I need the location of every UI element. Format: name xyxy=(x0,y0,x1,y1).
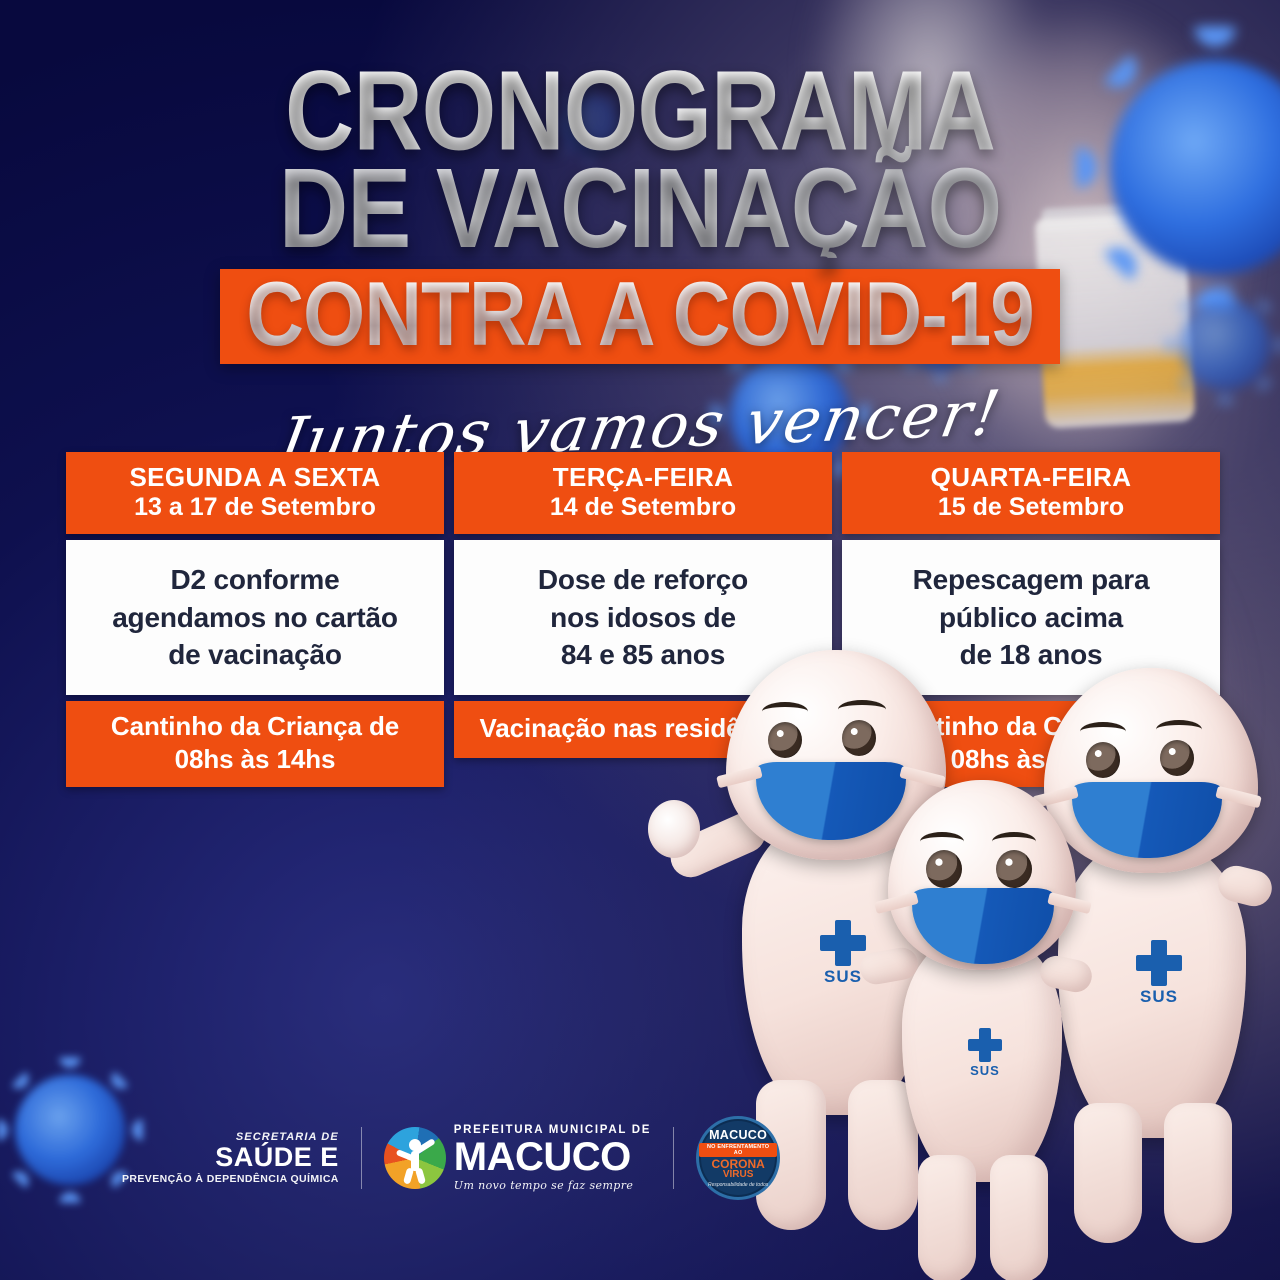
column-day: TERÇA-FEIRA xyxy=(460,463,826,491)
mascot-eyebrow-right xyxy=(1156,720,1202,739)
mascot-group: SUS SUS xyxy=(700,620,1280,1280)
secretaria-line-3: PREVENÇÃO À DEPENDÊNCIA QUÍMICA xyxy=(122,1173,339,1185)
prefeitura-line-2: MACUCO xyxy=(454,1137,651,1177)
column-footer-line: Cantinho da Criança de xyxy=(72,710,438,743)
mascot-eyebrow-right xyxy=(992,832,1036,851)
column-body: D2 conforme agendamos no cartão de vacin… xyxy=(66,540,444,695)
column-header: TERÇA-FEIRA 14 de Setembro xyxy=(454,452,832,534)
mascot-leg-right xyxy=(990,1155,1048,1280)
coronavirus-badge-wrap: MACUCO NO ENFRENTAMENTO AO CORONA VÍRUS … xyxy=(674,1116,780,1200)
column-header: SEGUNDA A SEXTA 13 a 17 de Setembro xyxy=(66,452,444,534)
column-footer: Cantinho da Criança de 08hs às 14hs xyxy=(66,701,444,787)
coronavirus-badge: MACUCO NO ENFRENTAMENTO AO CORONA VÍRUS … xyxy=(696,1116,780,1200)
footer-logos: SECRETARIA DE SAÚDE E PREVENÇÃO À DEPEND… xyxy=(122,1116,780,1200)
column-date: 13 a 17 de Setembro xyxy=(72,492,438,522)
badge-line-5: Responsabilidade de todos xyxy=(708,1183,768,1189)
sus-logo: SUS xyxy=(950,1028,1020,1077)
sus-label: SUS xyxy=(950,1064,1020,1077)
schedule-column: SEGUNDA A SEXTA 13 a 17 de Setembro D2 c… xyxy=(66,452,444,787)
mascot-eye-left xyxy=(926,850,962,888)
mascot-eye-right xyxy=(1160,740,1194,776)
prefeitura-logo: PREFEITURA MUNICIPAL DE MACUCO Um novo t… xyxy=(362,1125,673,1192)
sus-logo: SUS xyxy=(1114,940,1204,1005)
mascot-center-child: SUS xyxy=(880,780,1080,1280)
column-body-line: Dose de reforço xyxy=(538,561,748,599)
headline-block: CRONOGRAMA DE VACINAÇÃO CONTRA A COVID-1… xyxy=(0,78,1280,463)
column-header: QUARTA-FEIRA 15 de Setembro xyxy=(842,452,1220,534)
sus-cross-icon xyxy=(968,1028,1002,1062)
covid-banner: CONTRA A COVID-19 xyxy=(220,269,1060,364)
virus-particle-icon xyxy=(15,1075,125,1185)
mascot-hand-thumbs-up xyxy=(648,800,700,858)
sus-cross-icon xyxy=(1136,940,1182,986)
column-body-line: de vacinação xyxy=(168,636,341,674)
mascot-eyebrow-left xyxy=(1080,722,1126,741)
column-date: 15 de Setembro xyxy=(848,492,1214,522)
column-date: 14 de Setembro xyxy=(460,492,826,522)
column-body-line: Repescagem para xyxy=(913,561,1150,599)
column-body-line: D2 conforme xyxy=(171,561,340,599)
mascot-eyebrow-left xyxy=(920,832,964,851)
page-title: CRONOGRAMA DE VACINAÇÃO xyxy=(0,63,1280,258)
mascot-leg-left xyxy=(1074,1103,1142,1243)
title-line-2: DE VACINAÇÃO xyxy=(0,161,1280,258)
mascot-eyebrow-right xyxy=(838,700,886,719)
mascot-eye-right xyxy=(842,720,876,756)
badge-line-4: VÍRUS xyxy=(723,1170,754,1180)
mascot-eye-left xyxy=(768,722,802,758)
prefeitura-emblem-icon xyxy=(384,1127,446,1189)
badge-line-2: NO ENFRENTAMENTO AO xyxy=(699,1143,777,1157)
badge-line-3: CORONA xyxy=(711,1158,764,1170)
mascot-eyebrow-left xyxy=(762,702,808,721)
person-figure-icon xyxy=(400,1139,430,1179)
column-day: QUARTA-FEIRA xyxy=(848,463,1214,491)
secretaria-line-1: SECRETARIA DE xyxy=(122,1131,339,1143)
sus-label: SUS xyxy=(1114,988,1204,1005)
column-body-line: agendamos no cartão xyxy=(112,599,398,637)
secretaria-line-2: SAÚDE E xyxy=(122,1144,339,1171)
column-day: SEGUNDA A SEXTA xyxy=(72,463,438,491)
mascot-eye-right xyxy=(996,850,1032,888)
mascot-leg-left xyxy=(918,1155,976,1280)
mascot-eye-left xyxy=(1086,742,1120,778)
column-footer-line: 08hs às 14hs xyxy=(72,743,438,776)
vaccination-schedule-poster: CRONOGRAMA DE VACINAÇÃO CONTRA A COVID-1… xyxy=(0,0,1280,1280)
prefeitura-tagline: Um novo tempo se faz sempre xyxy=(454,1180,651,1191)
secretaria-logo: SECRETARIA DE SAÚDE E PREVENÇÃO À DEPEND… xyxy=(122,1131,361,1185)
badge-line-1: MACUCO xyxy=(709,1128,767,1142)
mascot-leg-right xyxy=(1164,1103,1232,1243)
prefeitura-wordmark: PREFEITURA MUNICIPAL DE MACUCO Um novo t… xyxy=(454,1125,651,1192)
covid-banner-label: CONTRA A COVID-19 xyxy=(246,273,1034,355)
sus-cross-icon xyxy=(820,920,866,966)
